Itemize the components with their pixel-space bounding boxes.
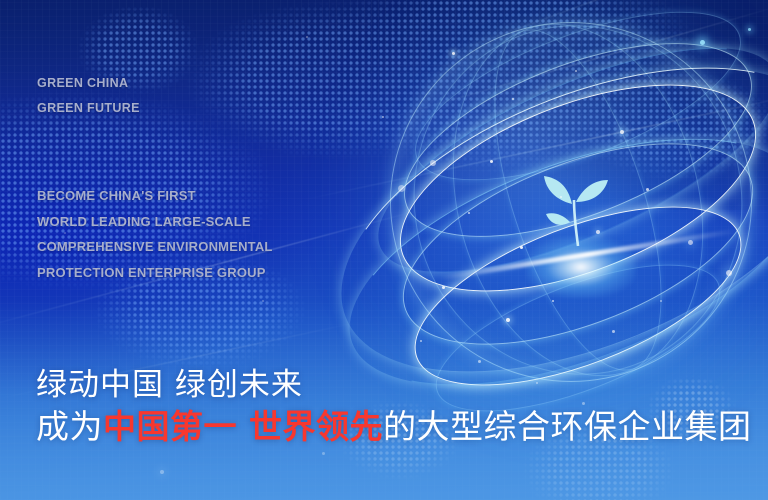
claim-line-1: BECOME CHINA'S FIRST xyxy=(37,183,273,209)
claim-line-2: WORLD LEADING LARGE-SCALE xyxy=(37,209,273,235)
claim-line-4: PROTECTION ENTERPRISE GROUP xyxy=(37,260,273,286)
promo-banner: GREEN CHINA GREEN FUTURE BECOME CHINA'S … xyxy=(0,0,768,500)
wireframe-globe-icon xyxy=(378,14,768,386)
eyebrow-line-2: GREEN FUTURE xyxy=(37,96,140,121)
headline-block: 绿动中国 绿创未来 成为中国第一 世界领先的大型综合环保企业集团 xyxy=(36,365,752,449)
eyebrow-line-1: GREEN CHINA xyxy=(37,71,140,96)
headline-accent: 中国第一 世界领先 xyxy=(103,407,383,446)
headline-line-1: 绿动中国 绿创未来 xyxy=(36,365,752,405)
headline-suffix: 的大型综合环保企业集团 xyxy=(383,407,752,446)
green-sprout-icon xyxy=(534,164,614,254)
eyebrow-text-block: GREEN CHINA GREEN FUTURE xyxy=(37,71,140,121)
claim-line-3: COMPREHENSIVE ENVIRONMENTAL xyxy=(37,234,273,260)
claim-text-block: BECOME CHINA'S FIRST WORLD LEADING LARGE… xyxy=(37,183,273,285)
headline-prefix: 成为 xyxy=(36,407,103,446)
headline-line-2: 成为中国第一 世界领先的大型综合环保企业集团 xyxy=(36,405,752,449)
